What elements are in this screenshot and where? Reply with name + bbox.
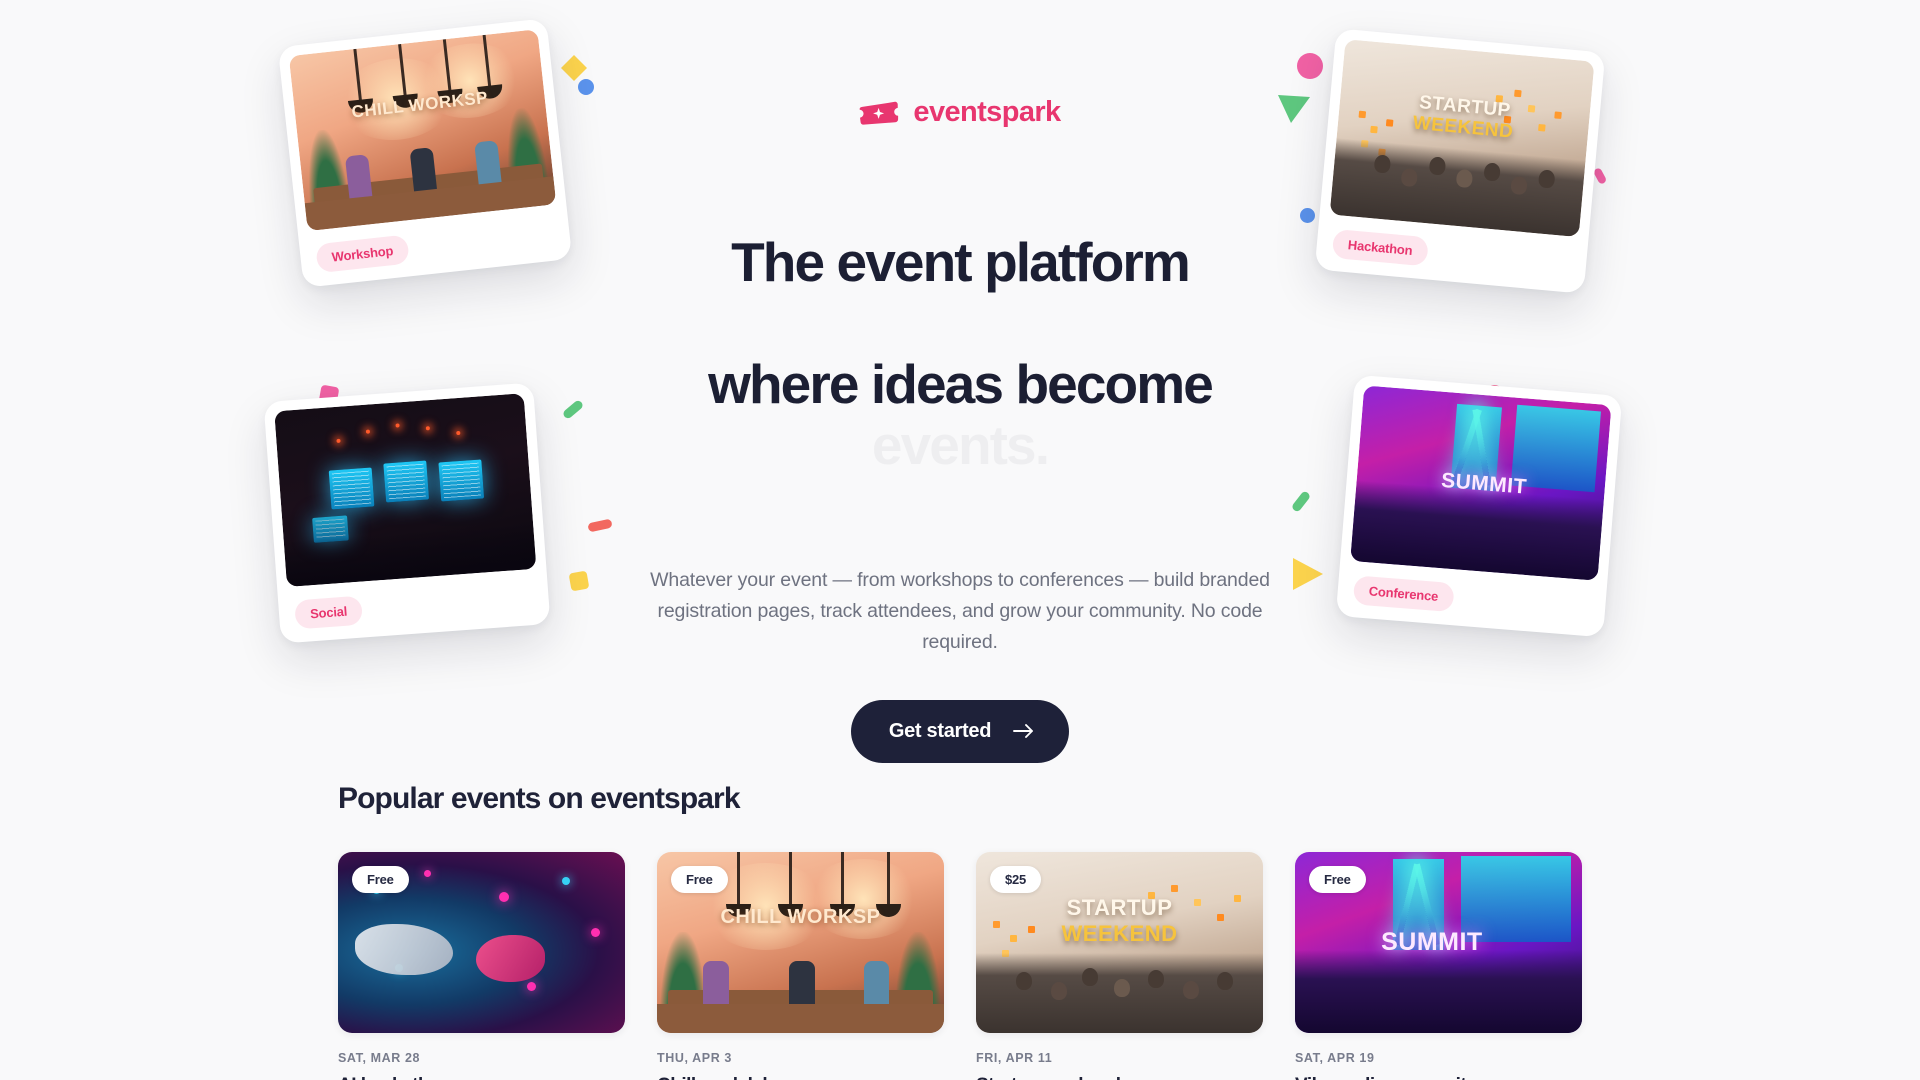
brand-logo[interactable]: eventspark: [640, 96, 1280, 129]
landing-page: CHILL WORKSP Workshop: [0, 0, 1920, 1080]
event-card[interactable]: Free SUMMIT SAT, APR 19 Vibe coding summ…: [1295, 852, 1582, 1080]
decor-dash-pink-topright: [1593, 167, 1608, 185]
floating-card-pill-conference: Conference: [1353, 575, 1455, 612]
event-thumbnail: Free CHI: [657, 852, 944, 1033]
floating-card-workshop[interactable]: CHILL WORKSP Workshop: [278, 18, 573, 288]
floating-card-pill-social: Social: [294, 595, 363, 629]
floating-card-social[interactable]: Social: [264, 382, 551, 643]
event-title: Chill work lab: [657, 1075, 944, 1080]
event-card[interactable]: Free SAT, MAR 28 AI hackathon: [338, 852, 625, 1080]
event-price-badge: Free: [671, 866, 728, 893]
section-title: Popular events on eventspark: [338, 782, 1582, 816]
event-price-badge: Free: [1309, 866, 1366, 893]
event-date: THU, APR 3: [657, 1051, 944, 1065]
event-date: FRI, APR 11: [976, 1051, 1263, 1065]
floating-card-pill-workshop: Workshop: [315, 234, 409, 273]
decor-triangle-yellow-topleft: [561, 55, 587, 81]
event-title: AI hackathon: [338, 1075, 625, 1080]
brand-name: eventspark: [913, 96, 1060, 129]
ticket-sparkle-icon: [859, 99, 901, 127]
floating-card-pill-hackathon: Hackathon: [1332, 228, 1429, 265]
floating-card-photo-workshop: CHILL WORKSP: [289, 29, 557, 231]
popular-events-section: Popular events on eventspark Free: [338, 782, 1582, 1080]
event-thumbnail: $25 STARTUP WEEKEND: [976, 852, 1263, 1033]
floating-card-hackathon[interactable]: STARTUP WEEKEND Hackathon: [1315, 28, 1606, 293]
headline-line-1: The event platform: [731, 231, 1189, 293]
event-title: Startup weekend: [976, 1075, 1263, 1080]
get-started-label: Get started: [889, 720, 991, 743]
get-started-button[interactable]: Get started: [851, 700, 1069, 763]
decor-dash-coral-bottomleft: [587, 519, 612, 533]
event-date: SAT, APR 19: [1295, 1051, 1582, 1065]
floating-card-photo-hackathon: STARTUP WEEKEND: [1330, 39, 1595, 237]
decor-dash-green-bottomright: [1291, 490, 1312, 513]
event-title: Vibe coding summit: [1295, 1075, 1582, 1080]
headline-line-3-animated: events.: [640, 415, 1280, 476]
floating-card-conference[interactable]: SUMMIT Conference: [1336, 375, 1623, 638]
decor-square-yellow-bottomleft: [569, 571, 590, 592]
arrow-right-icon: [1013, 723, 1035, 739]
hero-content: eventspark The event platform where idea…: [640, 96, 1280, 763]
headline-line-2: where ideas become: [708, 353, 1212, 415]
event-price-badge: Free: [352, 866, 409, 893]
decor-circle-blue-topleft: [578, 79, 594, 95]
event-thumbnail: Free SUMMIT: [1295, 852, 1582, 1033]
decor-dash-green-bottomleft: [562, 399, 585, 420]
hero-section: CHILL WORKSP Workshop: [0, 0, 1920, 720]
event-thumbnail: Free: [338, 852, 625, 1033]
decor-circle-blue-topright: [1300, 208, 1315, 223]
page-title: The event platform where ideas become ev…: [640, 171, 1280, 537]
floating-card-photo-conference: SUMMIT: [1350, 385, 1611, 580]
event-card[interactable]: $25 STARTUP WEEKEND: [976, 852, 1263, 1080]
event-date: SAT, MAR 28: [338, 1051, 625, 1065]
hero-subheading: Whatever your event — from workshops to …: [640, 565, 1280, 657]
decor-triangle-green-topright: [1278, 95, 1310, 123]
decor-triangle-yellow-bottomright: [1293, 558, 1323, 590]
event-card[interactable]: Free CHI: [657, 852, 944, 1080]
event-price-badge: $25: [990, 866, 1041, 893]
decor-circle-pink-topright: [1297, 53, 1323, 79]
floating-card-photo-social: [274, 393, 536, 587]
event-card-grid: Free SAT, MAR 28 AI hackathon: [338, 852, 1582, 1080]
